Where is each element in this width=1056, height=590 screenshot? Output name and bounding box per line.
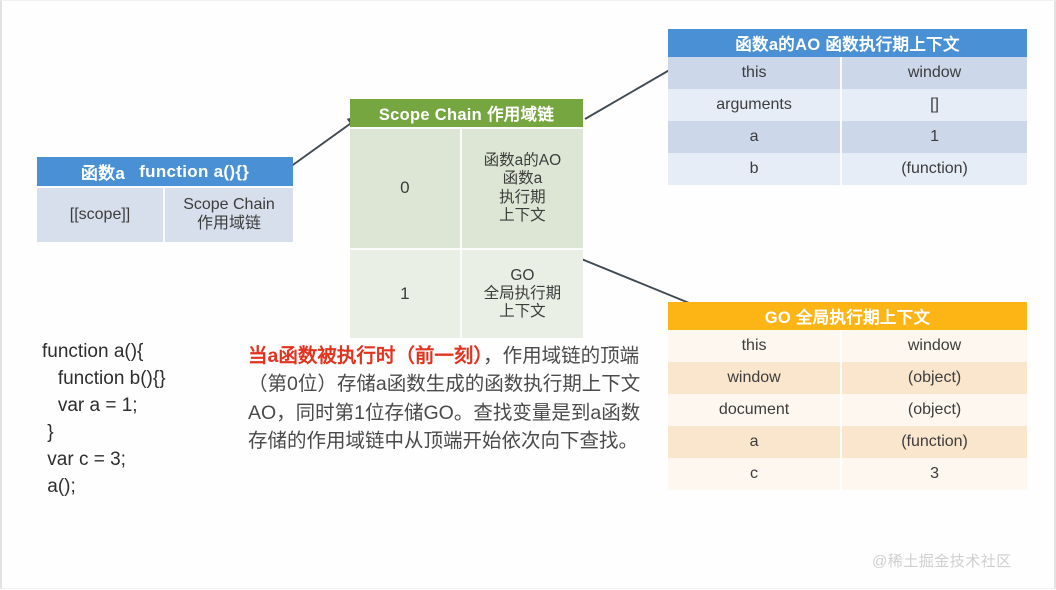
go-value-3: (function) bbox=[842, 426, 1027, 458]
function-a-table: 函数a function a(){} [[scope]] Scope Chain… bbox=[37, 157, 293, 242]
ao-value-2: 1 bbox=[842, 121, 1027, 153]
table-row: this window bbox=[668, 57, 1027, 89]
go-key-4: c bbox=[668, 458, 842, 490]
table-row: 1 GO 全局执行期 上下文 bbox=[350, 248, 583, 338]
ao-key-2: a bbox=[668, 121, 842, 153]
table-row: document (object) bbox=[668, 394, 1027, 426]
go-key-3: a bbox=[668, 426, 842, 458]
go-key-2: document bbox=[668, 394, 842, 426]
go-value-0: window bbox=[842, 330, 1027, 362]
scope-chain-value-0: 函数a的AO 函数a 执行期 上下文 bbox=[462, 129, 583, 248]
scope-chain-index-1: 1 bbox=[350, 250, 462, 338]
ao-value-1: [] bbox=[842, 89, 1027, 121]
ao-value-3: (function) bbox=[842, 153, 1027, 185]
table-row: 0 函数a的AO 函数a 执行期 上下文 bbox=[350, 127, 583, 248]
table-row: [[scope]] Scope Chain 作用域链 bbox=[37, 186, 293, 242]
table-row: arguments [] bbox=[668, 89, 1027, 121]
explanation-highlight: 当a函数被执行时（前一刻） bbox=[248, 345, 483, 367]
go-key-1: window bbox=[668, 362, 842, 394]
diagram-canvas: 函数a function a(){} [[scope]] Scope Chain… bbox=[0, 0, 1056, 589]
scope-chain-header: Scope Chain 作用域链 bbox=[350, 99, 583, 127]
scope-chain-value-1: GO 全局执行期 上下文 bbox=[462, 250, 583, 338]
ao-key-1: arguments bbox=[668, 89, 842, 121]
ao-table: 函数a的AO 函数执行期上下文 this window arguments []… bbox=[668, 29, 1027, 185]
go-key-0: this bbox=[668, 330, 842, 362]
function-a-scope-key: [[scope]] bbox=[37, 188, 165, 242]
table-row: b (function) bbox=[668, 153, 1027, 185]
ao-table-header: 函数a的AO 函数执行期上下文 bbox=[668, 29, 1027, 57]
table-row: window (object) bbox=[668, 362, 1027, 394]
scope-chain-table: Scope Chain 作用域链 0 函数a的AO 函数a 执行期 上下文 1 … bbox=[350, 99, 583, 338]
go-value-2: (object) bbox=[842, 394, 1027, 426]
function-a-scope-value: Scope Chain 作用域链 bbox=[165, 188, 293, 242]
go-table: GO 全局执行期上下文 this window window (object) … bbox=[668, 302, 1027, 490]
function-a-table-header: 函数a function a(){} bbox=[37, 157, 293, 186]
table-row: a (function) bbox=[668, 426, 1027, 458]
ao-key-3: b bbox=[668, 153, 842, 185]
function-a-header-cn: 函数a bbox=[81, 159, 125, 184]
go-table-header: GO 全局执行期上下文 bbox=[668, 302, 1027, 330]
explanation-text: 当a函数被执行时（前一刻），作用域链的顶端（第0位）存储a函数生成的函数执行期上… bbox=[248, 342, 648, 456]
go-value-4: 3 bbox=[842, 458, 1027, 490]
watermark: @稀土掘金技术社区 bbox=[872, 550, 1012, 571]
function-a-header-code: function a(){} bbox=[139, 162, 249, 182]
code-block: function a(){ function b(){} var a = 1; … bbox=[42, 339, 247, 501]
go-value-1: (object) bbox=[842, 362, 1027, 394]
ao-value-0: window bbox=[842, 57, 1027, 89]
ao-key-0: this bbox=[668, 57, 842, 89]
table-row: c 3 bbox=[668, 458, 1027, 490]
table-row: a 1 bbox=[668, 121, 1027, 153]
table-row: this window bbox=[668, 330, 1027, 362]
scope-chain-index-0: 0 bbox=[350, 129, 462, 248]
